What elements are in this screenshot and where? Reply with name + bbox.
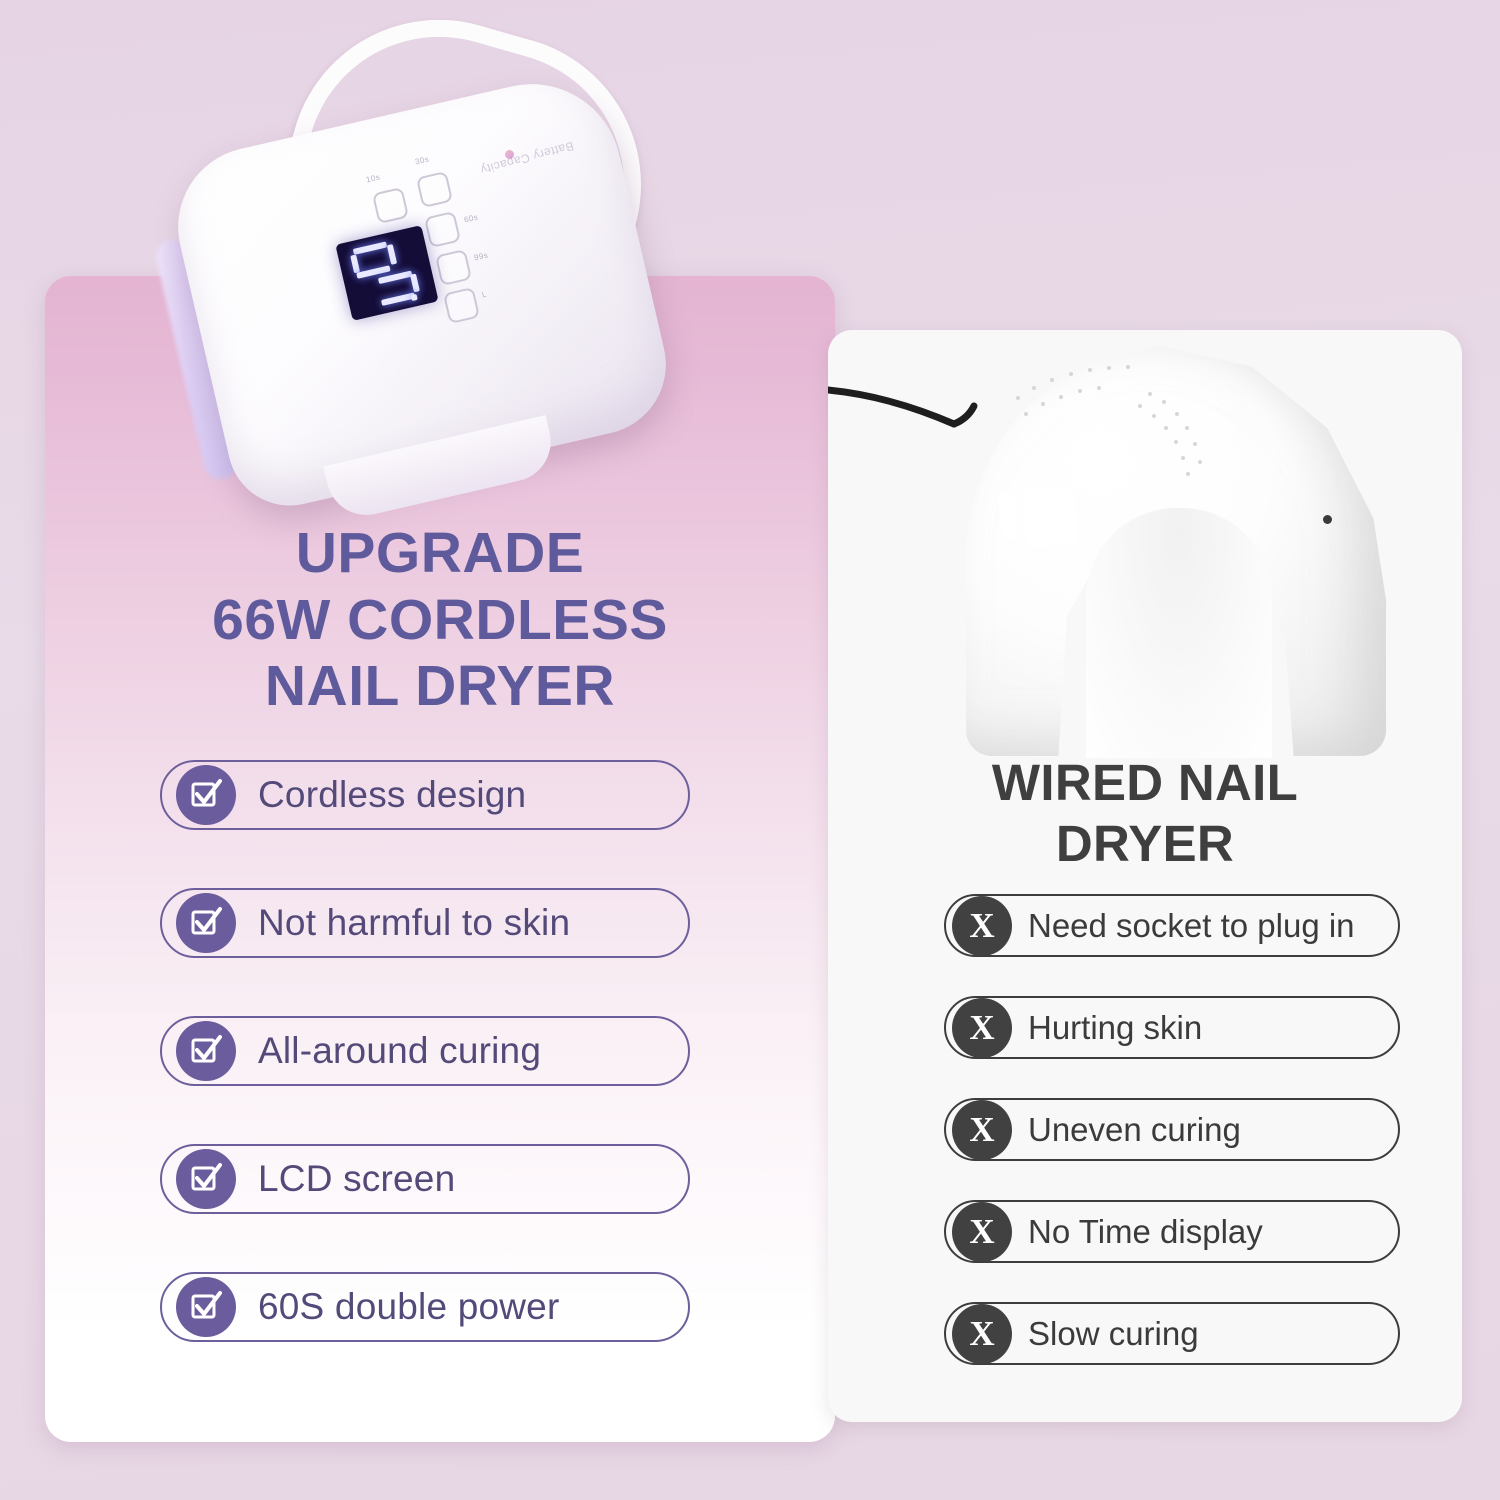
wired-dryer-port (1323, 515, 1332, 524)
drawback-pill[interactable]: X Uneven curing (944, 1098, 1400, 1161)
check-box-icon (176, 1021, 236, 1081)
check-box-icon (176, 1277, 236, 1337)
x-mark-icon: X (952, 1202, 1012, 1262)
drawback-label: Slow curing (1028, 1315, 1199, 1353)
wired-dryer-highlight (1021, 485, 1079, 548)
cordless-feature-list: Cordless design Not harmful to skin All-… (160, 760, 690, 1400)
drawback-label: No Time display (1028, 1213, 1263, 1251)
feature-label: LCD screen (258, 1158, 455, 1200)
feature-label: Cordless design (258, 774, 526, 816)
feature-pill[interactable]: Not harmful to skin (160, 888, 690, 958)
infographic-canvas: Battery Capacity 10s 30s 60s 99s L UPGRA… (0, 0, 1500, 1500)
x-mark-icon: X (952, 896, 1012, 956)
x-mark-icon: X (952, 1304, 1012, 1364)
left-panel-title: UPGRADE 66W CORDLESS NAIL DRYER (45, 520, 835, 720)
brand-logo-icon (505, 150, 514, 159)
check-box-icon (176, 893, 236, 953)
check-box-icon (176, 765, 236, 825)
drawback-pill[interactable]: X Need socket to plug in (944, 894, 1400, 957)
cordless-nail-dryer-image: Battery Capacity 10s 30s 60s 99s L (175, 22, 675, 522)
feature-pill[interactable]: All-around curing (160, 1016, 690, 1086)
x-mark-icon: X (952, 1100, 1012, 1160)
x-mark-icon: X (952, 998, 1012, 1058)
wired-dryer-inner-cavity (1086, 508, 1272, 758)
drawback-pill[interactable]: X Slow curing (944, 1302, 1400, 1365)
feature-label: 60S double power (258, 1286, 559, 1328)
power-cord-icon (828, 384, 1008, 432)
drawback-pill[interactable]: X No Time display (944, 1200, 1400, 1263)
drawback-label: Need socket to plug in (1028, 907, 1355, 945)
feature-pill[interactable]: 60S double power (160, 1272, 690, 1342)
feature-label: All-around curing (258, 1030, 541, 1072)
feature-pill[interactable]: LCD screen (160, 1144, 690, 1214)
feature-pill[interactable]: Cordless design (160, 760, 690, 830)
feature-label: Not harmful to skin (258, 902, 570, 944)
check-box-icon (176, 1149, 236, 1209)
drawback-pill[interactable]: X Hurting skin (944, 996, 1400, 1059)
drawback-label: Uneven curing (1028, 1111, 1241, 1149)
wired-drawback-list: X Need socket to plug in X Hurting skin … (944, 894, 1400, 1404)
right-panel-title: WIRED NAIL DRYER (828, 753, 1462, 874)
drawback-label: Hurting skin (1028, 1009, 1202, 1047)
wired-nail-dryer-image (828, 330, 1462, 760)
